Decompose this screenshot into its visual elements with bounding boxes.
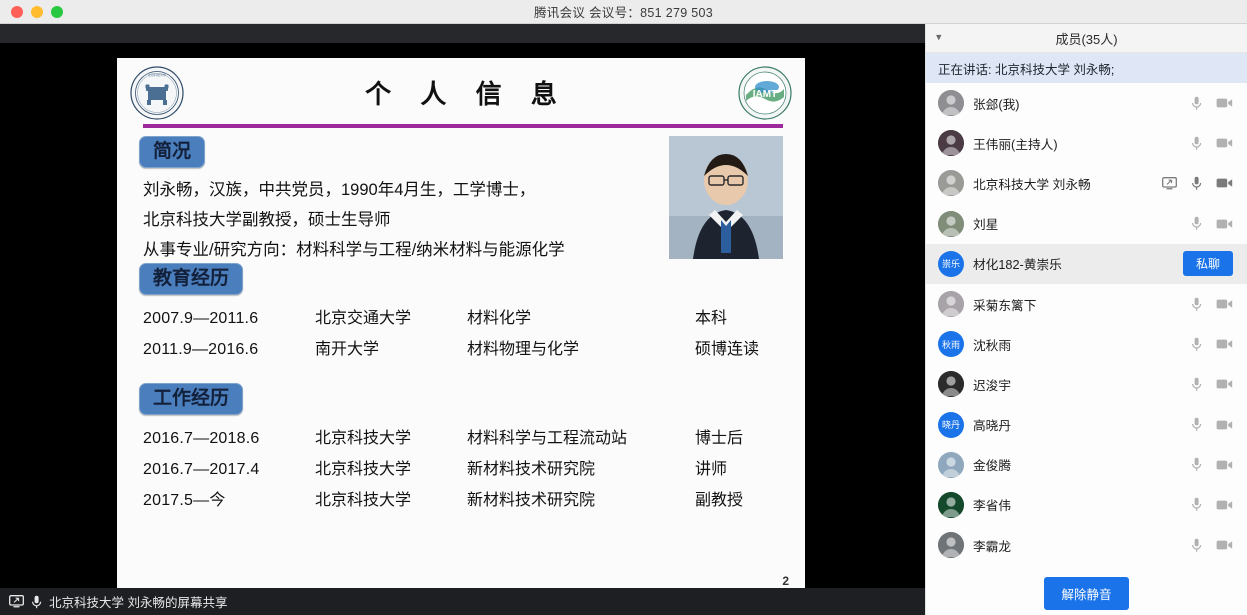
avatar [938, 211, 964, 237]
edu-school: 南开大学 [315, 334, 467, 365]
work-period: 2017.5—今 [143, 485, 315, 516]
participants-list[interactable]: 张郐(我)王伟丽(主持人)北京科技大学 刘永畅刘星崇乐材化182-黄崇乐私聊采菊… [926, 83, 1247, 571]
participant-controls [1191, 457, 1233, 472]
table-row: 2016.7—2018.6 北京科技大学 材料科学与工程流动站 博士后 [143, 423, 743, 454]
participant-name: 材化182-黄崇乐 [973, 254, 1183, 273]
video-camera-icon[interactable] [1216, 97, 1233, 109]
work-dept: 新材料技术研究院 [467, 485, 695, 516]
private-chat-button[interactable]: 私聊 [1183, 251, 1233, 276]
participant-row[interactable]: 金俊腾 [926, 445, 1247, 485]
education-table: 2007.9—2011.6 北京交通大学 材料化学 本科 2011.9—2016… [143, 303, 759, 365]
section-profile-body: 刘永畅，汉族，中共党员，1990年4月生，工学博士， 北京科技大学副教授，硕士生… [143, 175, 565, 265]
work-org: 北京科技大学 [315, 485, 467, 516]
screen-share-icon [9, 595, 24, 608]
maximize-window-button[interactable] [51, 6, 63, 18]
section-profile-tag: 简况 [139, 136, 205, 168]
microphone-icon[interactable] [1191, 497, 1202, 512]
profile-line: 从事专业/研究方向：材料科学与工程/纳米材料与能源化学 [143, 235, 565, 265]
video-camera-icon[interactable] [1216, 459, 1233, 471]
microphone-icon[interactable] [1191, 377, 1202, 392]
participant-controls [1191, 297, 1233, 312]
participant-name: 北京科技大学 刘永畅 [973, 174, 1162, 193]
work-dept: 新材料技术研究院 [467, 454, 695, 485]
participant-name: 李霸龙 [973, 536, 1191, 555]
section-profile: 简况 刘永畅，汉族，中共党员，1990年4月生，工学博士， 北京科技大学副教授，… [139, 136, 565, 265]
participant-controls: 私聊 [1183, 251, 1233, 276]
participant-name: 采菊东篱下 [973, 295, 1191, 314]
video-camera-icon[interactable] [1216, 539, 1233, 551]
video-camera-icon[interactable] [1216, 378, 1233, 390]
work-period: 2016.7—2018.6 [143, 423, 315, 454]
work-dept: 材料科学与工程流动站 [467, 423, 695, 454]
edu-major: 材料物理与化学 [467, 334, 695, 365]
participant-controls [1191, 538, 1233, 553]
screen-share-icon[interactable] [1162, 177, 1177, 190]
participant-controls [1191, 96, 1233, 111]
chevron-down-icon[interactable]: ▾ [936, 33, 942, 44]
participant-name: 刘星 [973, 214, 1191, 233]
work-table: 2016.7—2018.6 北京科技大学 材料科学与工程流动站 博士后 2016… [143, 423, 743, 516]
participant-name: 张郐(我) [973, 94, 1191, 113]
video-camera-icon[interactable] [1216, 137, 1233, 149]
video-camera-icon[interactable] [1216, 419, 1233, 431]
section-education-tag: 教育经历 [139, 263, 243, 295]
microphone-icon[interactable] [1191, 96, 1202, 111]
avatar: 秋雨 [938, 331, 964, 357]
section-education: 教育经历 2007.9—2011.6 北京交通大学 材料化学 本科 2011.9… [139, 263, 759, 365]
work-org: 北京科技大学 [315, 423, 467, 454]
slide-header: 北京科技大学 个 人 信 息 IAMT [117, 58, 805, 128]
table-row: 2016.7—2017.4 北京科技大学 新材料技术研究院 讲师 [143, 454, 743, 485]
participant-row[interactable]: 晓丹高晓丹 [926, 405, 1247, 445]
participant-controls [1191, 377, 1233, 392]
window-titlebar: 腾讯会议 会议号：851 279 503 [0, 0, 1247, 24]
share-status-label: 北京科技大学 刘永畅的屏幕共享 [49, 592, 227, 611]
presentation-slide: 北京科技大学 个 人 信 息 IAMT [117, 58, 805, 596]
participant-row[interactable]: 采菊东篱下 [926, 284, 1247, 324]
participant-row[interactable]: 王伟丽(主持人) [926, 123, 1247, 163]
participant-row[interactable]: 北京科技大学 刘永畅 [926, 163, 1247, 203]
avatar: 崇乐 [938, 251, 964, 277]
participant-controls [1191, 417, 1233, 432]
slide-title: 个 人 信 息 [117, 74, 805, 111]
iamt-seal-icon: IAMT [737, 65, 793, 121]
participant-name: 李省伟 [973, 495, 1191, 514]
section-work-tag: 工作经历 [139, 383, 243, 415]
participant-row[interactable]: 刘星 [926, 204, 1247, 244]
edu-period: 2011.9—2016.6 [143, 334, 315, 365]
unmute-button[interactable]: 解除静音 [1044, 577, 1128, 610]
work-title: 讲师 [695, 454, 743, 485]
microphone-icon[interactable] [1191, 457, 1202, 472]
profile-line: 刘永畅，汉族，中共党员，1990年4月生，工学博士， [143, 175, 565, 205]
participant-row[interactable]: 迟浚宇 [926, 364, 1247, 404]
participant-name: 沈秋雨 [973, 335, 1191, 354]
title-divider [143, 124, 783, 128]
participant-controls [1162, 176, 1233, 191]
participant-row[interactable]: 秋雨沈秋雨 [926, 324, 1247, 364]
participant-row[interactable]: 崇乐材化182-黄崇乐私聊 [926, 244, 1247, 284]
microphone-icon[interactable] [1191, 136, 1202, 151]
edu-school: 北京交通大学 [315, 303, 467, 334]
work-title: 副教授 [695, 485, 743, 516]
avatar [938, 291, 964, 317]
microphone-icon[interactable] [1191, 176, 1202, 191]
avatar [938, 452, 964, 478]
participants-panel-footer: 解除静音 [926, 571, 1247, 615]
participants-count-title: 成员(35人) [926, 29, 1247, 48]
active-speaker-label: 正在讲话: 北京科技大学 刘永畅; [938, 59, 1114, 78]
section-work: 工作经历 2016.7—2018.6 北京科技大学 材料科学与工程流动站 博士后… [139, 383, 743, 516]
video-camera-icon[interactable] [1216, 499, 1233, 511]
microphone-icon[interactable] [1191, 216, 1202, 231]
video-camera-icon[interactable] [1216, 298, 1233, 310]
edu-degree: 硕博连读 [695, 334, 759, 365]
slide-page-number: 2 [782, 574, 789, 588]
profile-line: 北京科技大学副教授，硕士生导师 [143, 205, 565, 235]
table-row: 2017.5—今 北京科技大学 新材料技术研究院 副教授 [143, 485, 743, 516]
screen-share-statusbar: 北京科技大学 刘永畅的屏幕共享 [0, 588, 925, 615]
avatar [938, 90, 964, 116]
microphone-icon [31, 595, 42, 609]
work-title: 博士后 [695, 423, 743, 454]
avatar [938, 170, 964, 196]
microphone-icon[interactable] [1191, 417, 1202, 432]
table-row: 2011.9—2016.6 南开大学 材料物理与化学 硕博连读 [143, 334, 759, 365]
avatar [938, 130, 964, 156]
microphone-icon[interactable] [1191, 337, 1202, 352]
participant-controls [1191, 497, 1233, 512]
avatar: 晓丹 [938, 412, 964, 438]
work-org: 北京科技大学 [315, 454, 467, 485]
active-speaker-banner: 正在讲话: 北京科技大学 刘永畅; [926, 53, 1247, 83]
edu-major: 材料化学 [467, 303, 695, 334]
stage-top-strip [0, 24, 925, 43]
microphone-icon[interactable] [1191, 538, 1202, 553]
edu-degree: 本科 [695, 303, 759, 334]
avatar [938, 371, 964, 397]
participants-panel-header: ▾ 成员(35人) [926, 24, 1247, 53]
meeting-window: 腾讯会议 会议号：851 279 503 [0, 0, 1247, 615]
participant-name: 高晓丹 [973, 415, 1191, 434]
microphone-icon[interactable] [1191, 297, 1202, 312]
work-period: 2016.7—2017.4 [143, 454, 315, 485]
participants-panel: ▾ 成员(35人) 正在讲话: 北京科技大学 刘永畅; 张郐(我)王伟丽(主持人… [925, 24, 1247, 615]
participant-name: 王伟丽(主持人) [973, 134, 1191, 153]
edu-period: 2007.9—2011.6 [143, 303, 315, 334]
participant-controls [1191, 136, 1233, 151]
window-title: 腾讯会议 会议号：851 279 503 [0, 2, 1247, 21]
participant-name: 迟浚宇 [973, 375, 1191, 394]
participant-row[interactable]: 李霸龙 [926, 525, 1247, 565]
shared-screen-stage: 北京科技大学 个 人 信 息 IAMT [0, 24, 925, 615]
video-camera-icon[interactable] [1216, 177, 1233, 189]
participant-controls [1191, 216, 1233, 231]
participant-controls [1191, 337, 1233, 352]
participant-row[interactable]: 李省伟 [926, 485, 1247, 525]
speaker-portrait [669, 136, 783, 259]
svg-text:IAMT: IAMT [753, 89, 777, 100]
table-row: 2007.9—2011.6 北京交通大学 材料化学 本科 [143, 303, 759, 334]
participant-name: 金俊腾 [973, 455, 1191, 474]
video-camera-icon[interactable] [1216, 218, 1233, 230]
minimize-window-button[interactable] [31, 6, 43, 18]
window-controls [0, 6, 63, 18]
avatar [938, 492, 964, 518]
participant-row[interactable]: 张郐(我) [926, 83, 1247, 123]
close-window-button[interactable] [11, 6, 23, 18]
avatar [938, 532, 964, 558]
video-camera-icon[interactable] [1216, 338, 1233, 350]
